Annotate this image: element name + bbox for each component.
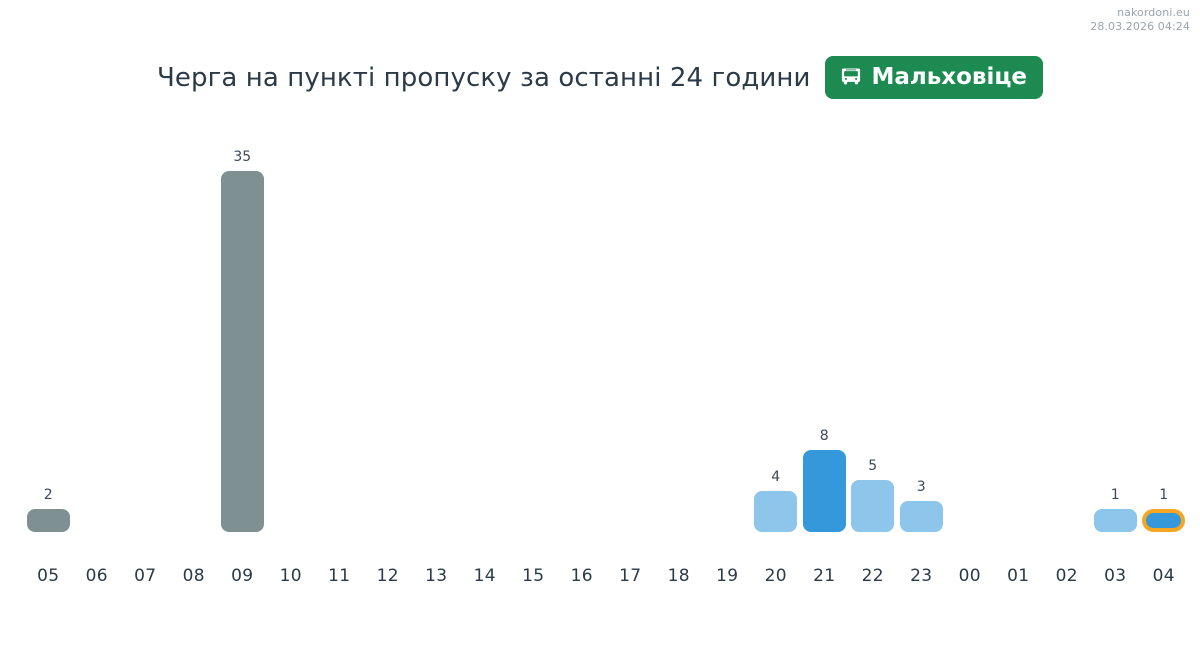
x-tick-08: 08 bbox=[170, 566, 219, 586]
x-tick-04: 04 bbox=[1140, 566, 1189, 586]
bar-slot-05[interactable]: 2 bbox=[24, 130, 73, 532]
bar-slot-01[interactable] bbox=[994, 130, 1043, 532]
bar-slot-02[interactable] bbox=[1043, 130, 1092, 532]
x-tick-06: 06 bbox=[73, 566, 122, 586]
bar-slot-23[interactable]: 3 bbox=[897, 130, 946, 532]
bar-slot-09[interactable]: 35 bbox=[218, 130, 267, 532]
bar-slot-21[interactable]: 8 bbox=[800, 130, 849, 532]
x-tick-09: 09 bbox=[218, 566, 267, 586]
x-axis: 0506070809101112131415161718192021222300… bbox=[24, 566, 1188, 586]
bar-03[interactable] bbox=[1094, 509, 1137, 532]
bar-slot-10[interactable] bbox=[267, 130, 316, 532]
x-tick-19: 19 bbox=[703, 566, 752, 586]
bar-value-label: 35 bbox=[233, 150, 251, 164]
x-tick-05: 05 bbox=[24, 566, 73, 586]
x-tick-23: 23 bbox=[897, 566, 946, 586]
bar-22[interactable] bbox=[851, 480, 894, 532]
bar-slot-07[interactable] bbox=[121, 130, 170, 532]
bar-slot-14[interactable] bbox=[461, 130, 510, 532]
x-tick-14: 14 bbox=[461, 566, 510, 586]
bar-slot-11[interactable] bbox=[315, 130, 364, 532]
bar-slot-18[interactable] bbox=[655, 130, 704, 532]
x-tick-12: 12 bbox=[364, 566, 413, 586]
bar-slot-13[interactable] bbox=[412, 130, 461, 532]
bar-series: 235485311 bbox=[24, 130, 1188, 532]
bar-slot-08[interactable] bbox=[170, 130, 219, 532]
x-tick-17: 17 bbox=[606, 566, 655, 586]
x-tick-13: 13 bbox=[412, 566, 461, 586]
bar-slot-06[interactable] bbox=[73, 130, 122, 532]
bar-value-label: 1 bbox=[1159, 488, 1168, 502]
bar-value-label: 4 bbox=[771, 470, 780, 484]
x-tick-07: 07 bbox=[121, 566, 170, 586]
x-tick-16: 16 bbox=[558, 566, 607, 586]
bar-slot-00[interactable] bbox=[946, 130, 995, 532]
bar-value-label: 8 bbox=[820, 429, 829, 443]
bar-value-label: 3 bbox=[917, 480, 926, 494]
bar-slot-15[interactable] bbox=[509, 130, 558, 532]
bar-05[interactable] bbox=[27, 509, 70, 532]
bar-value-label: 2 bbox=[44, 488, 53, 502]
bar-21[interactable] bbox=[803, 450, 846, 532]
bar-slot-12[interactable] bbox=[364, 130, 413, 532]
queue-bar-chart: 235485311 050607080910111213141516171819… bbox=[0, 0, 1200, 651]
bar-slot-04[interactable]: 1 bbox=[1140, 130, 1189, 532]
bar-09[interactable] bbox=[221, 171, 264, 532]
bar-slot-16[interactable] bbox=[558, 130, 607, 532]
x-tick-20: 20 bbox=[752, 566, 801, 586]
x-tick-15: 15 bbox=[509, 566, 558, 586]
x-tick-10: 10 bbox=[267, 566, 316, 586]
x-tick-21: 21 bbox=[800, 566, 849, 586]
bar-slot-22[interactable]: 5 bbox=[849, 130, 898, 532]
bar-20[interactable] bbox=[754, 491, 797, 532]
x-tick-02: 02 bbox=[1043, 566, 1092, 586]
bar-slot-17[interactable] bbox=[606, 130, 655, 532]
bar-04[interactable] bbox=[1142, 509, 1185, 532]
bar-slot-19[interactable] bbox=[703, 130, 752, 532]
x-tick-18: 18 bbox=[655, 566, 704, 586]
bar-slot-03[interactable]: 1 bbox=[1091, 130, 1140, 532]
x-tick-03: 03 bbox=[1091, 566, 1140, 586]
bar-value-label: 1 bbox=[1111, 488, 1120, 502]
bar-23[interactable] bbox=[900, 501, 943, 532]
x-tick-22: 22 bbox=[849, 566, 898, 586]
x-tick-11: 11 bbox=[315, 566, 364, 586]
bar-value-label: 5 bbox=[868, 459, 877, 473]
bar-slot-20[interactable]: 4 bbox=[752, 130, 801, 532]
x-tick-01: 01 bbox=[994, 566, 1043, 586]
x-tick-00: 00 bbox=[946, 566, 995, 586]
